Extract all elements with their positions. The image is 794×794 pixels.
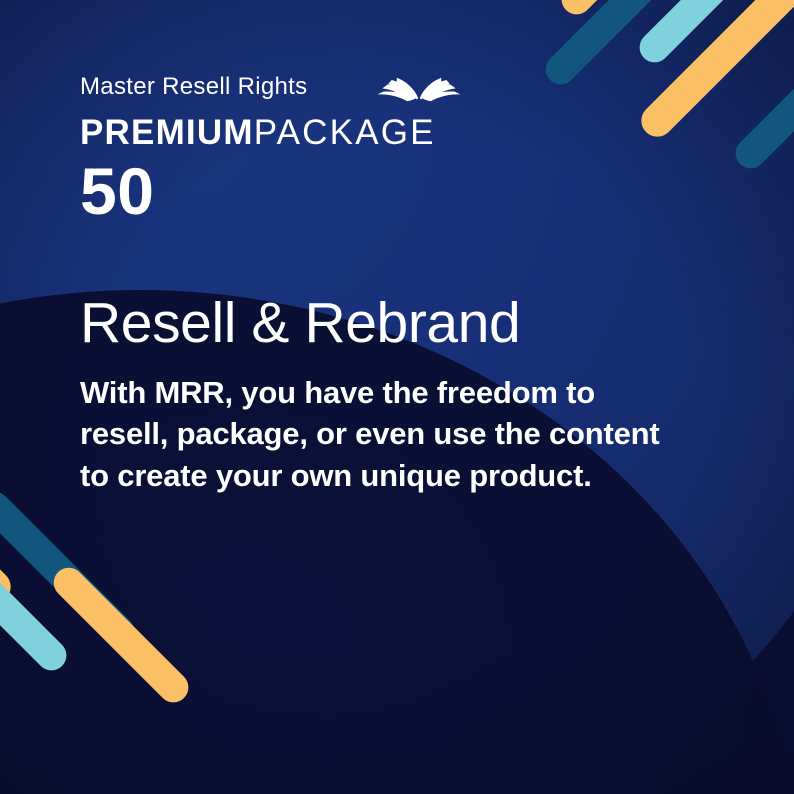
- open-book-icon: [371, 68, 467, 107]
- main-content: Resell & Rebrand With MRR, you have the …: [80, 292, 740, 496]
- body-paragraph: With MRR, you have the freedom toresell,…: [80, 372, 740, 497]
- body-line: With MRR, you have the freedom to: [80, 372, 740, 414]
- package-light-word: PACKAGE: [254, 113, 436, 152]
- body-line: to create your own unique product.: [80, 455, 740, 497]
- corner-stripes-bottom-left: [0, 494, 300, 794]
- promo-graphic: Master Resell Rights PR: [0, 0, 794, 794]
- header-block: Master Resell Rights PR: [80, 70, 720, 227]
- eyebrow-label: Master Resell Rights: [80, 73, 307, 101]
- eyebrow-row: Master Resell Rights: [80, 70, 720, 104]
- decor-stripe: [48, 562, 195, 709]
- package-bold-word: PREMIUM: [80, 113, 254, 152]
- package-count: 50: [80, 157, 720, 226]
- body-line: resell, package, or even use the content: [80, 413, 740, 455]
- headline: Resell & Rebrand: [80, 292, 740, 356]
- package-line: PREMIUMPACKAGE: [80, 112, 720, 153]
